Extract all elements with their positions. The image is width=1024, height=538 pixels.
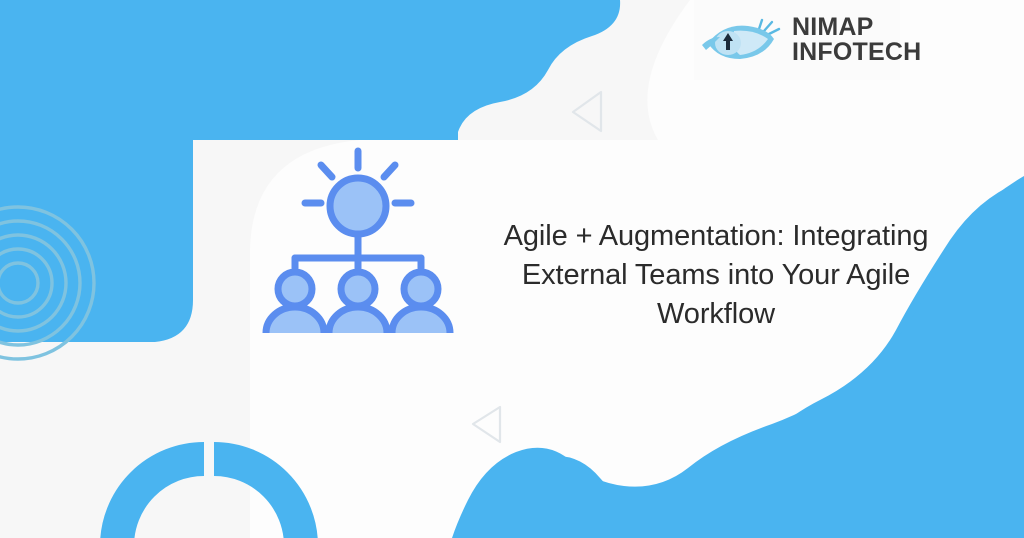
eye-icon bbox=[702, 17, 786, 63]
person-left bbox=[266, 272, 324, 333]
brand-logo-badge[interactable]: NIMAP INFOTECH bbox=[694, 0, 900, 80]
top-left-dot bbox=[222, 80, 248, 106]
idea-circle bbox=[330, 178, 386, 234]
ray-top-right bbox=[384, 165, 395, 177]
brand-wordmark: NIMAP INFOTECH bbox=[792, 15, 921, 66]
brand-name-line-2: INFOTECH bbox=[792, 40, 921, 66]
person-center bbox=[329, 272, 387, 333]
ray-top-left bbox=[321, 165, 332, 177]
promo-banner: NIMAP INFOTECH bbox=[0, 0, 1024, 538]
person-right bbox=[392, 272, 450, 333]
page-title: Agile + Augmentation: Integrating Extern… bbox=[466, 217, 966, 334]
brand-name-line-1: NIMAP bbox=[792, 15, 921, 41]
connector-tree bbox=[295, 236, 421, 268]
team-hierarchy-idea-icon bbox=[253, 146, 463, 338]
